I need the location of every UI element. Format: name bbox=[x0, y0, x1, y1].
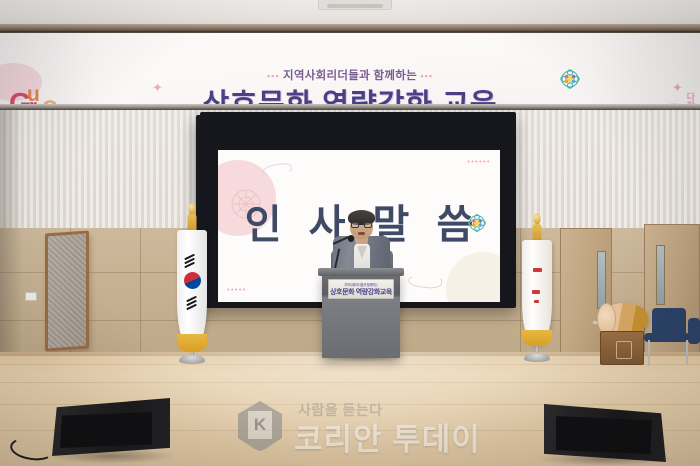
flag-fringe bbox=[522, 330, 552, 346]
flag-finial-icon bbox=[189, 203, 196, 214]
monitor-grille-left bbox=[60, 412, 152, 448]
taeguk-symbol bbox=[181, 269, 203, 291]
podium-sign: 지역사회리더들과 함께하는 상호문화 역량강화교육 bbox=[328, 279, 394, 299]
microphone-icon bbox=[348, 235, 354, 242]
presenter-mouth bbox=[358, 232, 365, 235]
taegukgi-flag bbox=[172, 212, 212, 360]
screen-dots-top-right: •••••• bbox=[467, 159, 491, 166]
screen-swirl-decor-2 bbox=[407, 273, 442, 289]
screen-dancheong-icon bbox=[466, 212, 488, 234]
event-banner: G u r o ✦ ✦ ✦ 다함께 ••• 지역사회리더들과 함께하는 ••• bbox=[0, 33, 700, 107]
flag-base bbox=[179, 355, 205, 364]
projector-icon bbox=[318, 0, 392, 10]
watermark-logo-letter: K bbox=[248, 411, 272, 439]
banner-dots-left: ••• bbox=[267, 71, 279, 81]
watermark-name: 코리안 투데이 bbox=[294, 414, 481, 459]
podium-top bbox=[318, 268, 404, 276]
chair-second[interactable] bbox=[688, 318, 700, 344]
flag-finial-icon bbox=[534, 213, 541, 224]
flag-base bbox=[524, 353, 550, 362]
photograph-scene: G u r o ✦ ✦ ✦ 다함께 ••• 지역사회리더들과 함께하는 ••• bbox=[0, 0, 700, 466]
screen-dots-bottom-left: ••••• bbox=[227, 287, 247, 294]
chair-seat[interactable] bbox=[644, 333, 690, 342]
guro-district-flag bbox=[518, 222, 556, 358]
flag-cloth bbox=[177, 230, 207, 348]
flag-fringe bbox=[177, 334, 207, 352]
door-window bbox=[656, 245, 665, 305]
wall-left-shading bbox=[0, 110, 22, 360]
drum-stand bbox=[600, 331, 644, 365]
flag-cloth bbox=[522, 240, 552, 344]
door-window bbox=[597, 251, 606, 309]
screen-beige-circle bbox=[446, 252, 500, 302]
glasses-icon bbox=[351, 222, 372, 228]
banner-dots-right: ••• bbox=[421, 71, 433, 81]
acoustic-panel bbox=[45, 230, 89, 351]
monitor-grille-right bbox=[556, 416, 652, 454]
podium-sign-title: 상호문화 역량강화교육 bbox=[330, 287, 392, 297]
screen-swirl-decor bbox=[261, 162, 292, 178]
ceiling-trim bbox=[0, 24, 700, 31]
watermark: K 사람을 듣는다 코리안 투데이 bbox=[238, 398, 488, 460]
wall-outlet bbox=[25, 292, 37, 301]
